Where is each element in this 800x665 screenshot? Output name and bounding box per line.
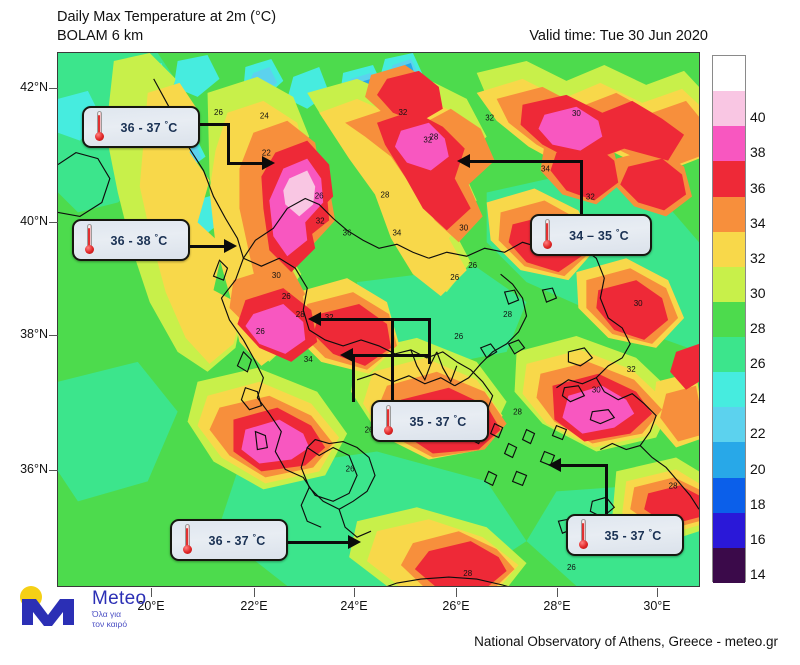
colorbar-label-28: 28: [750, 320, 766, 336]
logo-tagline: Όλα για τον καιρό: [92, 609, 127, 629]
colorbar-cell-30: [713, 267, 745, 302]
colorbar-label-22: 22: [750, 425, 766, 441]
lat-tick-40°N: 40°N: [4, 214, 48, 228]
callout-w-greece-value: 36 - 38 °C: [98, 232, 188, 248]
leader-4-h1: [320, 318, 394, 321]
leader-4-h3: [352, 354, 430, 357]
contour-label-28: 28: [296, 310, 305, 319]
lat-tick-42°N: 42°N: [4, 80, 48, 94]
contour-label-28: 28: [463, 569, 472, 578]
lat-tick-36°N: 36°N: [4, 462, 48, 476]
colorbar-label-26: 26: [750, 355, 766, 371]
contour-label-32: 32: [627, 365, 636, 374]
lon-tick-22°E: 22°E: [230, 599, 278, 613]
leader-2-arrow: [224, 239, 237, 253]
leader-4-v2: [428, 318, 431, 364]
lat-tickmark-42°N: [49, 88, 58, 89]
title-block: Daily Max Temperature at 2m (°C) BOLAM 6…: [57, 8, 276, 46]
leader-4-h2: [391, 318, 431, 321]
contour-label-30: 30: [459, 223, 468, 232]
leader-5-arrow: [348, 535, 361, 549]
leader-2-h: [190, 245, 226, 248]
contour-label-28: 28: [381, 190, 390, 199]
thermometer-icon: [92, 111, 106, 143]
colorbar-label-38: 38: [750, 144, 766, 160]
colorbar-cell-24: [713, 372, 745, 407]
contour-label-26: 26: [346, 464, 355, 473]
contour-label-28: 28: [513, 408, 522, 417]
leader-1-h2: [227, 162, 263, 165]
colorbar-cell-26: [713, 337, 745, 372]
leader-1-h1: [200, 123, 230, 126]
callout-ne-aegean-value: 34 – 35 °C: [556, 227, 650, 243]
contour-label-34: 34: [304, 355, 313, 364]
colorbar-label-36: 36: [750, 180, 766, 196]
lon-tick-26°E: 26°E: [432, 599, 480, 613]
contour-label-28: 28: [503, 310, 512, 319]
contour-label-24: 24: [260, 112, 269, 121]
contour-label-34: 34: [541, 165, 550, 174]
lon-tick-30°E: 30°E: [633, 599, 681, 613]
contour-label-32: 32: [423, 136, 432, 145]
colorbar-label-40: 40: [750, 109, 766, 125]
attribution-label: National Observatory of Athens, Greece -…: [474, 634, 778, 649]
lon-tickmark-26°E: [456, 588, 457, 597]
logo-wordmark: Meteo: [92, 588, 146, 610]
lat-tickmark-38°N: [49, 335, 58, 336]
colorbar-cell-14: [713, 548, 745, 583]
colorbar-cell-32: [713, 232, 745, 267]
callout-nw-epirus[interactable]: 36 - 37 °C: [82, 106, 200, 148]
thermometer-icon: [82, 224, 96, 256]
callout-central-greece-value: 35 - 37 °C: [397, 413, 487, 429]
colorbar-label-16: 16: [750, 531, 766, 547]
callout-central-greece[interactable]: 35 - 37 °C: [371, 400, 489, 442]
colorbar-label-14: 14: [750, 566, 766, 582]
page-title: Daily Max Temperature at 2m (°C): [57, 8, 276, 27]
colorbar-label-32: 32: [750, 250, 766, 266]
lat-tickmark-40°N: [49, 222, 58, 223]
callout-se-dodecanese-value: 35 - 37 °C: [592, 527, 682, 543]
leader-6-h: [560, 464, 608, 467]
colorbar-label-18: 18: [750, 496, 766, 512]
colorbar-label-24: 24: [750, 390, 766, 406]
lon-tickmark-24°E: [354, 588, 355, 597]
callout-sw-peloponnese-value: 36 - 37 °C: [196, 532, 286, 548]
model-subtitle: BOLAM 6 km: [57, 27, 276, 46]
contour-label-26: 26: [315, 191, 324, 200]
colorbar-cell-16: [713, 513, 745, 548]
colorbar-cell-22: [713, 407, 745, 442]
contour-label-26: 26: [567, 563, 576, 572]
logo-tagline-line1: Όλα για: [92, 609, 127, 619]
letter-m-mark: [22, 599, 74, 626]
leader-4-v3: [352, 354, 355, 402]
leader-1-arrow: [262, 156, 275, 170]
leader-3-h: [470, 160, 583, 163]
thermometer-icon: [540, 219, 554, 251]
leader-4-v1: [391, 318, 394, 402]
leader-1-v: [227, 123, 230, 165]
leader-3-v: [580, 160, 583, 216]
contour-label-34: 34: [393, 228, 402, 237]
leader-3-arrow: [457, 154, 470, 168]
contour-label-26: 26: [214, 108, 223, 117]
contour-label-26: 26: [450, 273, 459, 282]
contour-label-36: 36: [343, 228, 352, 237]
thermometer-icon: [180, 524, 194, 556]
lon-tick-24°E: 24°E: [330, 599, 378, 613]
thermometer-icon: [381, 405, 395, 437]
valid-time-label: Valid time: Tue 30 Jun 2020: [529, 28, 708, 44]
contour-label-26: 26: [256, 327, 265, 336]
contour-label-30: 30: [272, 271, 281, 280]
lat-tickmark-36°N: [49, 470, 58, 471]
thermometer-icon: [576, 519, 590, 551]
contour-label-26: 26: [468, 261, 477, 270]
lon-tickmark-30°E: [657, 588, 658, 597]
colorbar-label-20: 20: [750, 461, 766, 477]
contour-label-28: 28: [669, 481, 678, 490]
contour-label-30: 30: [592, 386, 601, 395]
colorbar-cell-38: [713, 126, 745, 161]
lon-tickmark-22°E: [254, 588, 255, 597]
colorbar-cell-18: [713, 478, 745, 513]
contour-label-26: 26: [282, 292, 291, 301]
lon-tickmark-28°E: [557, 588, 558, 597]
lat-tick-38°N: 38°N: [4, 327, 48, 341]
lon-tick-28°E: 28°E: [533, 599, 581, 613]
colorbar-cell-top: [713, 56, 745, 91]
leader-5-h: [288, 541, 350, 544]
colorbar-label-34: 34: [750, 215, 766, 231]
meteo-logo[interactable]: Meteo Όλα για τον καιρό: [14, 585, 164, 629]
contour-label-30: 30: [572, 109, 581, 118]
colorbar-cell-36: [713, 161, 745, 196]
leader-6-arrow: [548, 458, 561, 472]
temperature-colorbar[interactable]: [712, 55, 746, 582]
leader-4-arrow1: [308, 312, 321, 326]
colorbar-cell-34: [713, 197, 745, 232]
colorbar-label-30: 30: [750, 285, 766, 301]
contour-label-32: 32: [316, 216, 325, 225]
contour-label-32: 32: [586, 192, 595, 201]
callout-se-dodecanese[interactable]: 35 - 37 °C: [566, 514, 684, 556]
colorbar-cell-40: [713, 91, 745, 126]
colorbar-cell-28: [713, 302, 745, 337]
colorbar-cell-20: [713, 442, 745, 477]
meteo-logo-mark: [14, 585, 90, 627]
contour-label-26: 26: [454, 332, 463, 341]
callout-ne-aegean[interactable]: 34 – 35 °C: [530, 214, 652, 256]
logo-tagline-line2: τον καιρό: [92, 619, 127, 629]
callout-w-greece[interactable]: 36 - 38 °C: [72, 219, 190, 261]
callout-sw-peloponnese[interactable]: 36 - 37 °C: [170, 519, 288, 561]
contour-label-30: 30: [634, 299, 643, 308]
contour-label-32: 32: [485, 114, 494, 123]
callout-nw-epirus-value: 36 - 37 °C: [108, 119, 198, 135]
leader-6-v: [605, 464, 608, 516]
contour-label-32: 32: [398, 108, 407, 117]
